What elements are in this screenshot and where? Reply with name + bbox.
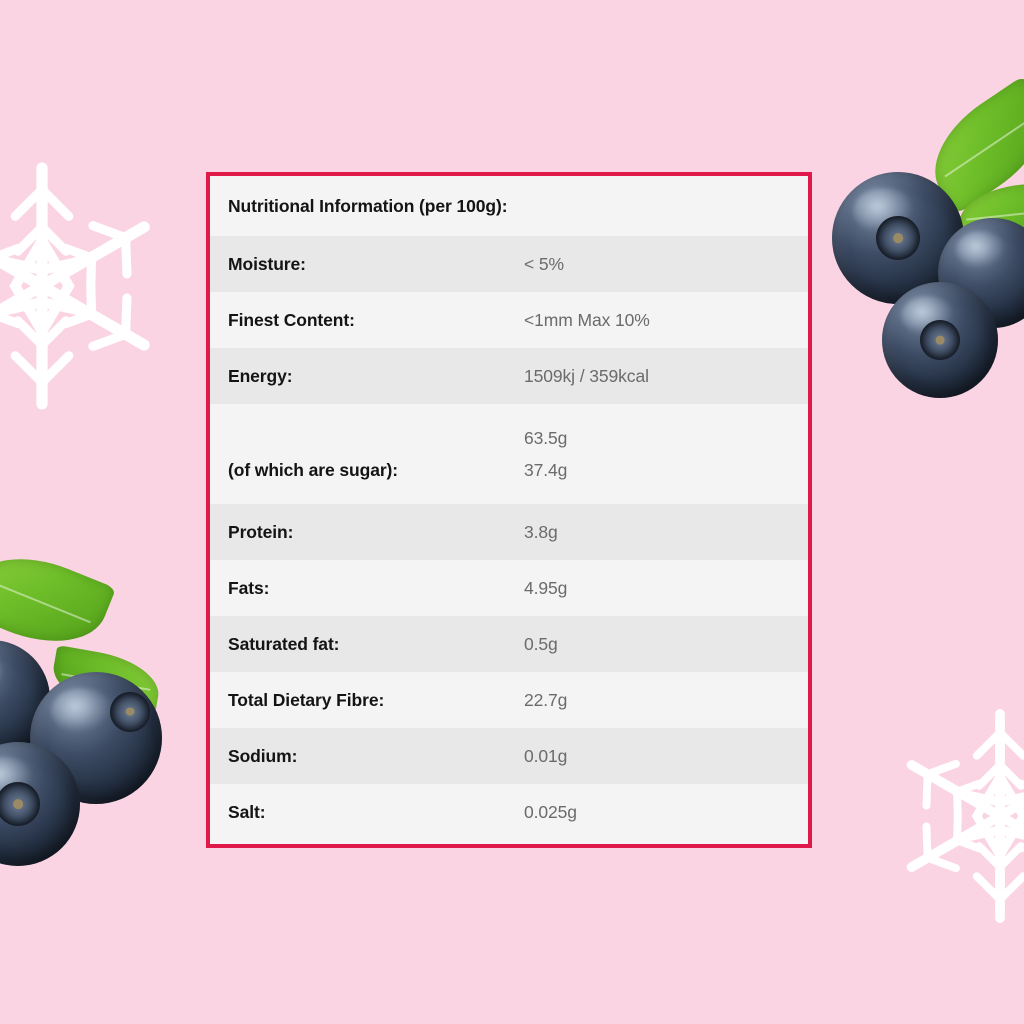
leaf-icon bbox=[955, 181, 1024, 248]
row-label: Carbohydrates: bbox=[228, 172, 524, 449]
blueberry-icon bbox=[938, 218, 1024, 328]
row-label: Sodium: bbox=[228, 746, 524, 767]
row-value: 3.8g bbox=[524, 522, 558, 543]
blueberry-cluster-bottom-left bbox=[0, 548, 196, 878]
snowflake-icon bbox=[884, 700, 1024, 932]
blueberry-icon bbox=[0, 742, 80, 866]
row-label: Saturated fat: bbox=[228, 634, 524, 655]
snowflake-icon bbox=[0, 152, 176, 420]
row-value: 0.01g bbox=[524, 746, 567, 767]
row-value: 22.7g bbox=[524, 690, 567, 711]
leaf-icon bbox=[48, 645, 164, 717]
row-label: Protein: bbox=[228, 522, 524, 543]
blueberry-icon bbox=[30, 672, 162, 804]
table-row: Carbohydrates: (of which are sugar): 63.… bbox=[210, 404, 808, 504]
row-sub-label: (of which are sugar): bbox=[228, 460, 524, 756]
row-value: 0.025g bbox=[524, 802, 577, 823]
blueberry-icon bbox=[882, 282, 998, 398]
blueberry-icon bbox=[832, 172, 964, 304]
row-label: Total Dietary Fibre: bbox=[228, 690, 524, 711]
blueberry-icon bbox=[0, 640, 50, 758]
row-value: 63.5g bbox=[524, 428, 567, 449]
blueberry-cluster-top-right bbox=[820, 100, 1024, 430]
leaf-icon bbox=[0, 537, 116, 662]
row-value: 0.5g bbox=[524, 634, 558, 655]
nutrition-information-card: Nutritional Information (per 100g): Mois… bbox=[206, 172, 812, 848]
row-value: <1mm Max 10% bbox=[524, 310, 650, 331]
row-label: Salt: bbox=[228, 802, 524, 823]
table-row: Salt: 0.025g bbox=[210, 784, 808, 840]
row-value: < 5% bbox=[524, 254, 564, 275]
leaf-icon bbox=[913, 76, 1024, 214]
row-value: 4.95g bbox=[524, 578, 567, 599]
nutrition-table: Nutritional Information (per 100g): Mois… bbox=[210, 176, 808, 844]
row-sub-value: 37.4g bbox=[524, 460, 567, 481]
row-value: 1509kj / 359kcal bbox=[524, 366, 649, 387]
row-label: Fats: bbox=[228, 578, 524, 599]
